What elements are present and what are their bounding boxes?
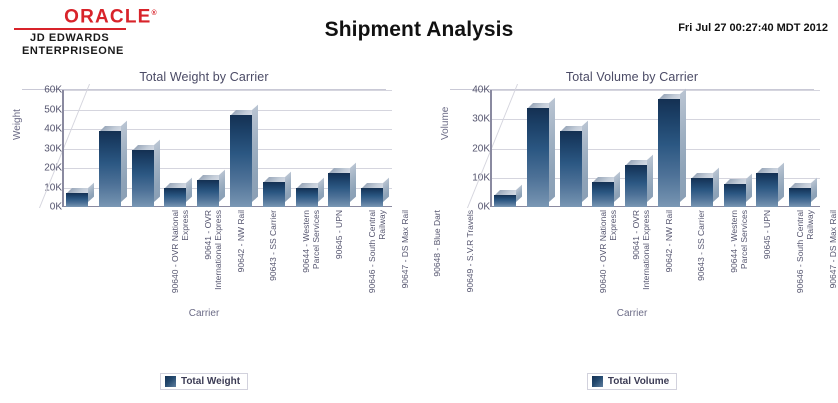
bar-face-side [383, 178, 389, 202]
bar-face-side [252, 105, 258, 202]
bar[interactable] [527, 108, 549, 207]
x-axis-tick-label: 90641 - OVR International Express [204, 210, 223, 298]
y-axis-tick-label: 30K [44, 143, 62, 154]
bar[interactable] [99, 131, 121, 207]
bar-face-side [549, 97, 555, 202]
x-axis-tick-label: 90646 - South Central Railway [368, 210, 387, 298]
legend-label-total-weight: Total Weight [181, 376, 240, 387]
bar-face-front [132, 150, 154, 207]
chart-title-weight: Total Weight by Carrier [6, 58, 402, 89]
y-axis-tick-label: 60K [44, 85, 62, 96]
chart-title-volume: Total Volume by Carrier [434, 58, 830, 89]
bar-face-front [691, 178, 713, 207]
bar-face-side [647, 154, 653, 202]
bar[interactable] [756, 173, 778, 207]
legend-swatch-icon [592, 376, 603, 387]
chart-panel-total-weight: Total Weight by Carrier Weight 0K10K20K3… [6, 58, 402, 403]
bar-face-front [724, 184, 746, 207]
bar-face-front [756, 173, 778, 207]
legend-item-total-weight[interactable]: Total Weight [160, 373, 248, 390]
bar[interactable] [789, 188, 811, 207]
bar-face-side [350, 162, 356, 202]
bar-face-side [614, 172, 620, 202]
x-axis-tick-label: 90644 - Western Parcel Services [730, 210, 749, 298]
bar[interactable] [691, 178, 713, 207]
bar[interactable] [230, 115, 252, 207]
x-axis-title-weight: Carrier [6, 308, 402, 319]
x-axis-tick-label: 90644 - Western Parcel Services [302, 210, 321, 298]
bar-face-side [318, 178, 324, 202]
y-axis-title-volume-label: Volume [440, 107, 451, 140]
x-axis-tick-label: 90647 - DS Max Rail [829, 210, 838, 298]
bar-face-front [296, 188, 318, 207]
bar-face-front [230, 115, 252, 207]
bar-face-side [154, 140, 160, 202]
bar[interactable] [560, 131, 582, 207]
bar-face-front [625, 165, 647, 207]
y-axis-tick-label: 40K [472, 85, 490, 96]
bar-face-side [680, 88, 686, 202]
x-axis-tick-label: 90643 - SS Carrier [697, 210, 707, 298]
bar-face-front [527, 108, 549, 207]
y-axis-tick-label: 0K [50, 202, 62, 213]
bar-face-side [713, 167, 719, 202]
bar-face-side [516, 185, 522, 202]
x-axis-tick-label: 90642 - NW Rail [237, 210, 247, 298]
bar-face-side [582, 121, 588, 202]
y-axis-tick-label: 30K [472, 114, 490, 125]
bar-face-side [186, 178, 192, 202]
bar[interactable] [361, 188, 383, 207]
registered-trademark-icon: ® [152, 10, 158, 17]
y-axis-tick-label: 50K [44, 104, 62, 115]
x-axis-ticks-volume: 90640 - OVR National Express90641 - OVR … [492, 210, 830, 302]
bar-face-front [494, 195, 516, 207]
charts-container: Total Weight by Carrier Weight 0K10K20K3… [0, 58, 838, 403]
legend-swatch-icon [165, 376, 176, 387]
plot-wrapper-volume: Volume 0K10K20K30K40K 90640 - OVR Nation… [434, 90, 830, 352]
bar-face-front [361, 188, 383, 207]
bar[interactable] [296, 188, 318, 207]
bar-face-front [789, 188, 811, 207]
x-axis-tick-label: 90641 - OVR International Express [632, 210, 651, 298]
x-axis-tick-label: 90646 - South Central Railway [796, 210, 815, 298]
bar-face-side [746, 173, 752, 202]
bar-series-volume [492, 90, 820, 207]
x-axis-tick-label: 90643 - SS Carrier [269, 210, 279, 298]
y-axis-title-weight: Weight [12, 109, 23, 140]
x-axis-ticks-weight: 90640 - OVR National Express90641 - OVR … [64, 210, 402, 302]
chart-panel-total-volume: Total Volume by Carrier Volume 0K10K20K3… [434, 58, 830, 403]
bar[interactable] [328, 173, 350, 207]
y-axis-tick-label: 40K [44, 124, 62, 135]
bar-face-side [778, 163, 784, 202]
bar-face-front [66, 193, 88, 207]
x-axis-tick-label: 90645 - UPN [763, 210, 773, 298]
y-axis-title-weight-label: Weight [12, 109, 23, 140]
bar-face-front [560, 131, 582, 207]
bar[interactable] [592, 182, 614, 207]
bar-face-front [164, 188, 186, 207]
bar[interactable] [66, 193, 88, 207]
bar-face-side [285, 171, 291, 202]
x-axis-tick-label: 90642 - NW Rail [665, 210, 675, 298]
bar-face-front [658, 99, 680, 207]
product-name-line2: ENTERPRISEONE [8, 45, 208, 58]
bar-face-side [121, 121, 127, 202]
report-timestamp: Fri Jul 27 00:27:40 MDT 2012 [678, 22, 828, 34]
bar-face-side [219, 169, 225, 202]
y-axis-title-volume: Volume [440, 107, 451, 140]
bar-face-side [88, 183, 94, 202]
bar-face-front [263, 182, 285, 207]
legend-label-total-volume: Total Volume [608, 376, 669, 387]
x-axis-title-volume: Carrier [434, 308, 830, 319]
report-header: ORACLE® JD EDWARDS ENTERPRISEONE Shipmen… [0, 0, 838, 58]
bar[interactable] [724, 184, 746, 207]
bar[interactable] [494, 195, 516, 207]
legend-weight: Total Weight [6, 373, 402, 390]
y-axis-ticks-weight: 0K10K20K30K40K50K60K [28, 90, 62, 207]
bar[interactable] [625, 165, 647, 207]
x-axis-tick-label: 90645 - UPN [335, 210, 345, 298]
plot-area-volume [492, 90, 820, 207]
y-axis-ticks-volume: 0K10K20K30K40K [456, 90, 490, 207]
bar-face-side [811, 178, 817, 202]
bar-face-front [197, 180, 219, 207]
x-axis-tick-label: 90640 - OVR National Express [171, 210, 190, 298]
bar-face-front [99, 131, 121, 207]
bar[interactable] [197, 180, 219, 207]
bar-series-weight [64, 90, 392, 207]
x-axis-tick-label: 90640 - OVR National Express [599, 210, 618, 298]
bar[interactable] [132, 150, 154, 207]
plot-area-weight [64, 90, 392, 207]
plot-wrapper-weight: Weight 0K10K20K30K40K50K60K 90640 - OVR … [6, 90, 402, 352]
bar[interactable] [263, 182, 285, 207]
bar-face-front [328, 173, 350, 207]
bar[interactable] [164, 188, 186, 207]
legend-volume: Total Volume [434, 373, 830, 390]
bar[interactable] [658, 99, 680, 207]
x-axis-tick-label: 90647 - DS Max Rail [401, 210, 411, 298]
y-axis-tick-label: 20K [472, 143, 490, 154]
bar-face-front [592, 182, 614, 207]
y-axis-tick-label: 0K [478, 202, 490, 213]
legend-item-total-volume[interactable]: Total Volume [587, 373, 677, 390]
